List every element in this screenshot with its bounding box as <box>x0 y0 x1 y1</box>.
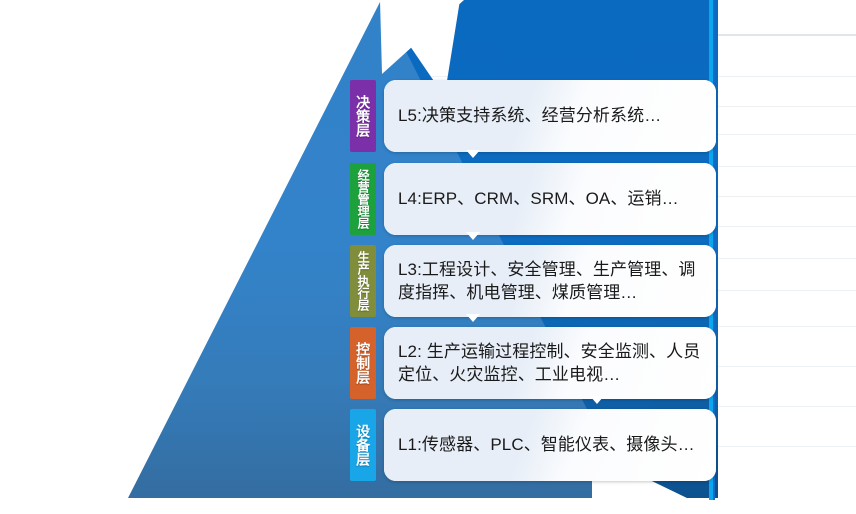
level-tab-control[interactable]: 控制层 <box>350 327 376 399</box>
level-card-l3[interactable]: L3:工程设计、安全管理、生产管理、调度指挥、机电管理、煤质管理… <box>384 245 716 317</box>
flow-arrow-icon <box>466 150 480 158</box>
level-card-l2[interactable]: L2: 生产运输过程控制、安全监测、人员定位、火灾监控、工业电视… <box>384 327 716 399</box>
level-content-l1: L1:传感器、PLC、智能仪表、摄像头… <box>398 433 695 456</box>
flow-arrow-icon <box>466 314 480 322</box>
level-tab-equipment[interactable]: 设备层 <box>350 409 376 481</box>
level-content-l3: L3:工程设计、安全管理、生产管理、调度指挥、机电管理、煤质管理… <box>398 258 702 305</box>
level-row-l5[interactable]: 决策层 L5:决策支持系统、经营分析系统… <box>350 80 716 152</box>
level-tab-business-management[interactable]: 经营管理层 <box>350 163 376 235</box>
level-card-l1[interactable]: L1:传感器、PLC、智能仪表、摄像头… <box>384 409 716 481</box>
flow-arrow-icon <box>466 232 480 240</box>
level-row-l2[interactable]: 控制层 L2: 生产运输过程控制、安全监测、人员定位、火灾监控、工业电视… <box>350 327 716 399</box>
level-content-l4: L4:ERP、CRM、SRM、OA、运销… <box>398 187 679 210</box>
level-tab-decision[interactable]: 决策层 <box>350 80 376 152</box>
level-row-l4[interactable]: 经营管理层 L4:ERP、CRM、SRM、OA、运销… <box>350 163 716 235</box>
level-row-l3[interactable]: 生产执行层 L3:工程设计、安全管理、生产管理、调度指挥、机电管理、煤质管理… <box>350 245 716 317</box>
level-rows: 决策层 L5:决策支持系统、经营分析系统… 经营管理层 L4:ERP、CRM、S… <box>0 0 856 514</box>
level-card-l5[interactable]: L5:决策支持系统、经营分析系统… <box>384 80 716 152</box>
level-tab-production-execution[interactable]: 生产执行层 <box>350 245 376 317</box>
flow-arrow-icon <box>590 396 604 404</box>
level-row-l1[interactable]: 设备层 L1:传感器、PLC、智能仪表、摄像头… <box>350 409 716 481</box>
diagram-canvas: 决策层 L5:决策支持系统、经营分析系统… 经营管理层 L4:ERP、CRM、S… <box>0 0 856 514</box>
level-content-l2: L2: 生产运输过程控制、安全监测、人员定位、火灾监控、工业电视… <box>398 340 702 387</box>
level-content-l5: L5:决策支持系统、经营分析系统… <box>398 104 661 127</box>
level-card-l4[interactable]: L4:ERP、CRM、SRM、OA、运销… <box>384 163 716 235</box>
